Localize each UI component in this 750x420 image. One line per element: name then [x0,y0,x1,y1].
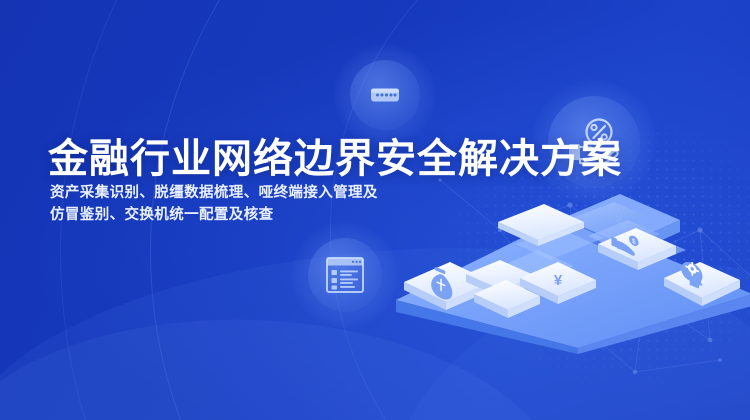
isometric-platform: ¥ [388,182,750,354]
subtitle-line-1: 资产采集识别、脱缰数据梳理、哑终端接入管理及 [50,182,430,204]
server-icon [350,60,420,130]
page-title: 金融行业网络边界安全解决方案 [48,126,622,184]
yen-icon: ¥ [554,272,563,289]
document-list-icon [308,238,382,312]
banner-root: ¥ [0,0,750,420]
subtitle-line-2: 仿冒鉴别、交换机统一配置及核查 [50,204,430,226]
subtitle: 资产采集识别、脱缰数据梳理、哑终端接入管理及 仿冒鉴别、交换机统一配置及核查 [50,182,430,226]
